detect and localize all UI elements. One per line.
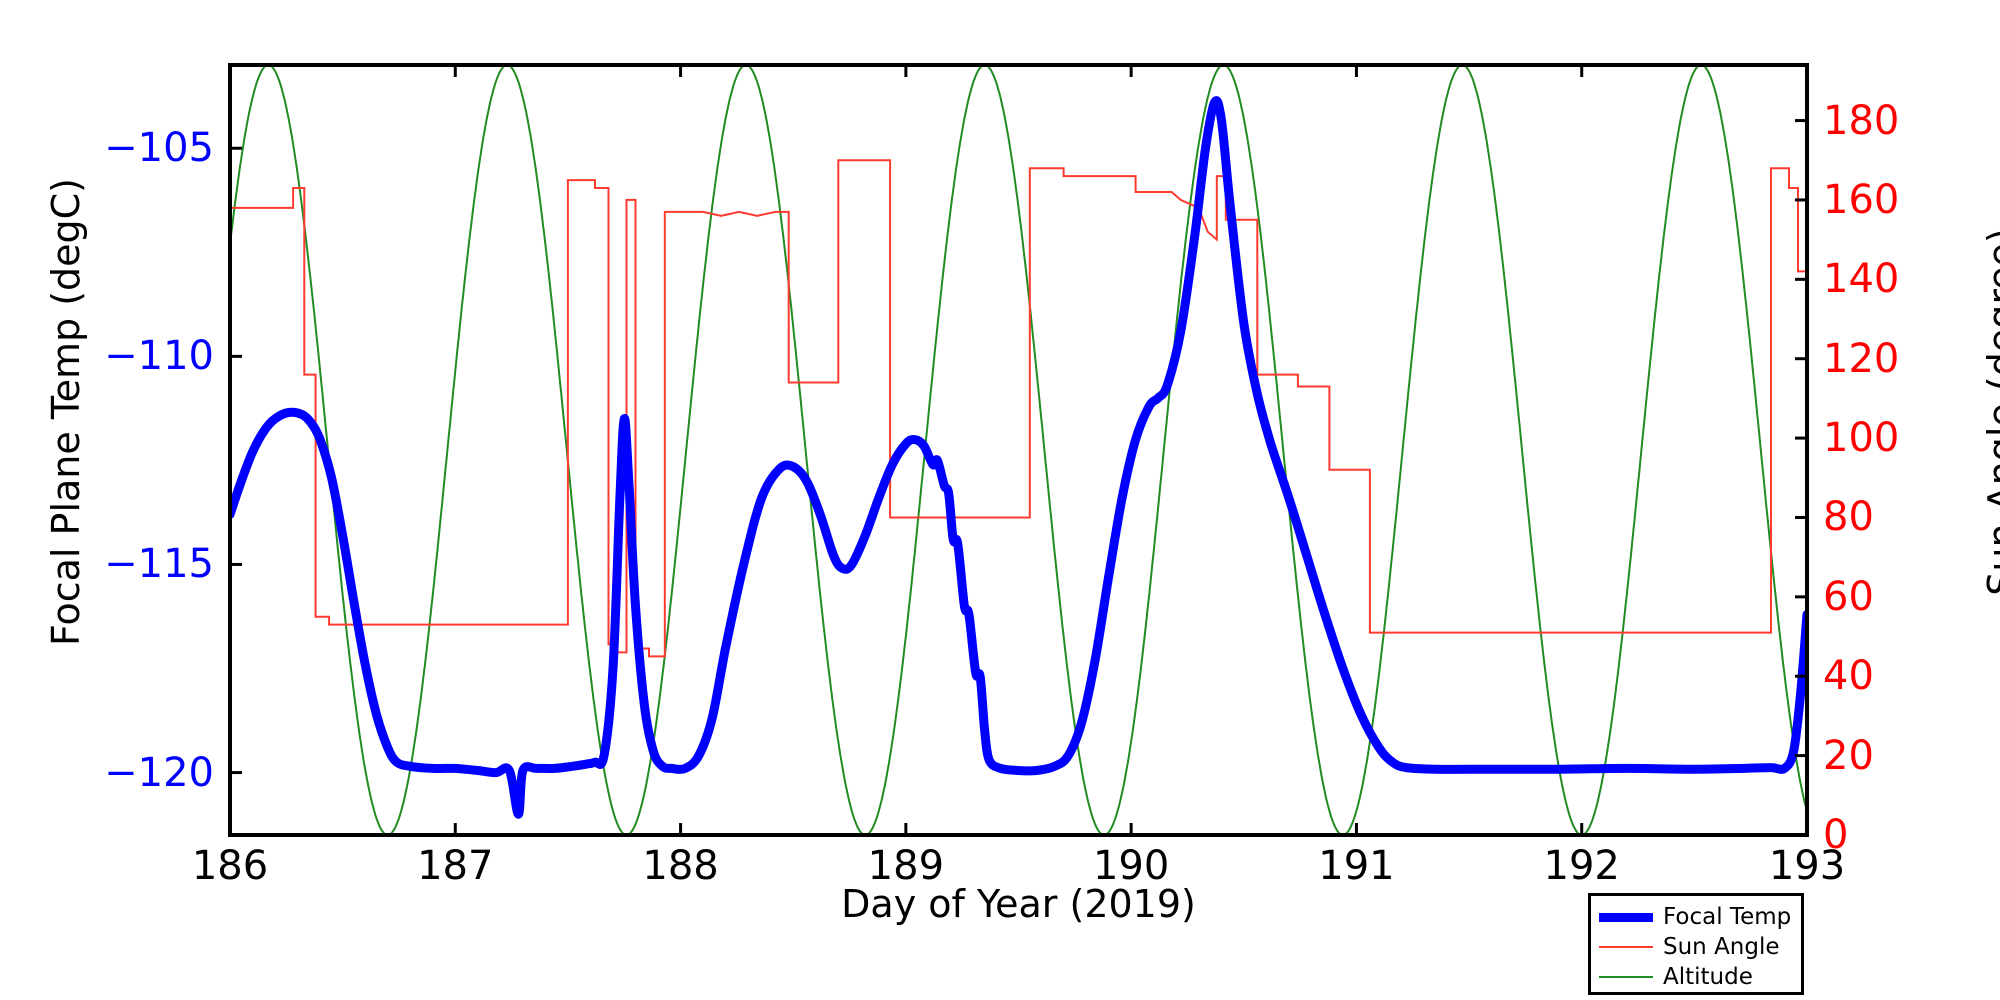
altitude-line [230, 65, 1807, 835]
series-layer [230, 65, 1807, 835]
axis-frame-layer [230, 65, 1807, 835]
legend-swatch-line [1599, 946, 1653, 948]
sun-angle-line [230, 160, 1807, 656]
legend-entry: Sun Angle [1599, 932, 1793, 962]
legend-entry: Altitude [1599, 962, 1793, 992]
legend-label: Sun Angle [1663, 934, 1780, 960]
legend-label: Altitude [1663, 964, 1753, 990]
legend-label: Focal Temp [1663, 904, 1791, 930]
plot-canvas [0, 0, 2000, 1000]
chart-legend: Focal TempSun AngleAltitude [1588, 893, 1804, 995]
axis-frame [230, 65, 1807, 835]
legend-swatch-line [1599, 976, 1653, 978]
chart-figure: Focal Plane Temp (degC) Sun Angle (degre… [0, 0, 2000, 1000]
legend-entry: Focal Temp [1599, 902, 1793, 932]
legend-swatch-line [1599, 913, 1653, 922]
